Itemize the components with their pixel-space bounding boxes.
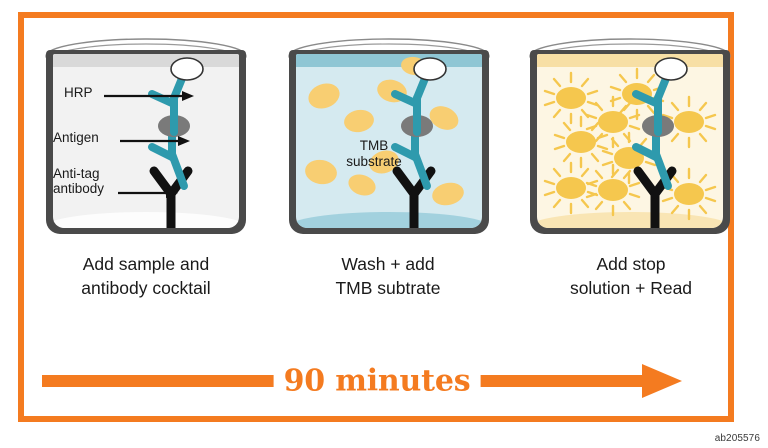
immune-complex-diagram [537, 54, 723, 228]
microplate-well-3 [524, 32, 736, 234]
label-tmb-substrate: TMB substrate [322, 138, 426, 170]
timeline-duration-label: 90 minutes [274, 364, 481, 399]
arrow-to-hrp-icon [104, 90, 196, 102]
label-anti-tag-antibody: Anti-tag antibody [53, 166, 104, 196]
label-hrp: HRP [64, 85, 93, 100]
label-antigen: Antigen [53, 130, 99, 145]
step-1-caption: Add sample and antibody cocktail [20, 252, 272, 300]
well-interior [537, 54, 723, 228]
step-3-group [524, 32, 736, 234]
hrp-icon [171, 58, 203, 80]
figure-canvas: HRP Antigen Anti-tag antibody [0, 0, 768, 448]
arrow-to-anti-tag-antibody-icon [118, 187, 180, 199]
arrow-to-antigen-icon [120, 135, 192, 147]
step-2-group: TMB substrate [283, 32, 495, 234]
product-code-watermark: ab205576 [715, 433, 760, 444]
microplate-well-2: TMB substrate [283, 32, 495, 234]
timeline-arrow-group: 90 minutes [42, 358, 712, 404]
step-1-group: HRP Antigen Anti-tag antibody [40, 32, 252, 234]
step-3-caption: Add stop solution + Read [505, 252, 757, 300]
hrp-icon [414, 58, 446, 80]
well-interior: TMB substrate [296, 54, 482, 228]
hrp-icon [655, 58, 687, 80]
step-2-caption: Wash + add TMB subtrate [262, 252, 514, 300]
